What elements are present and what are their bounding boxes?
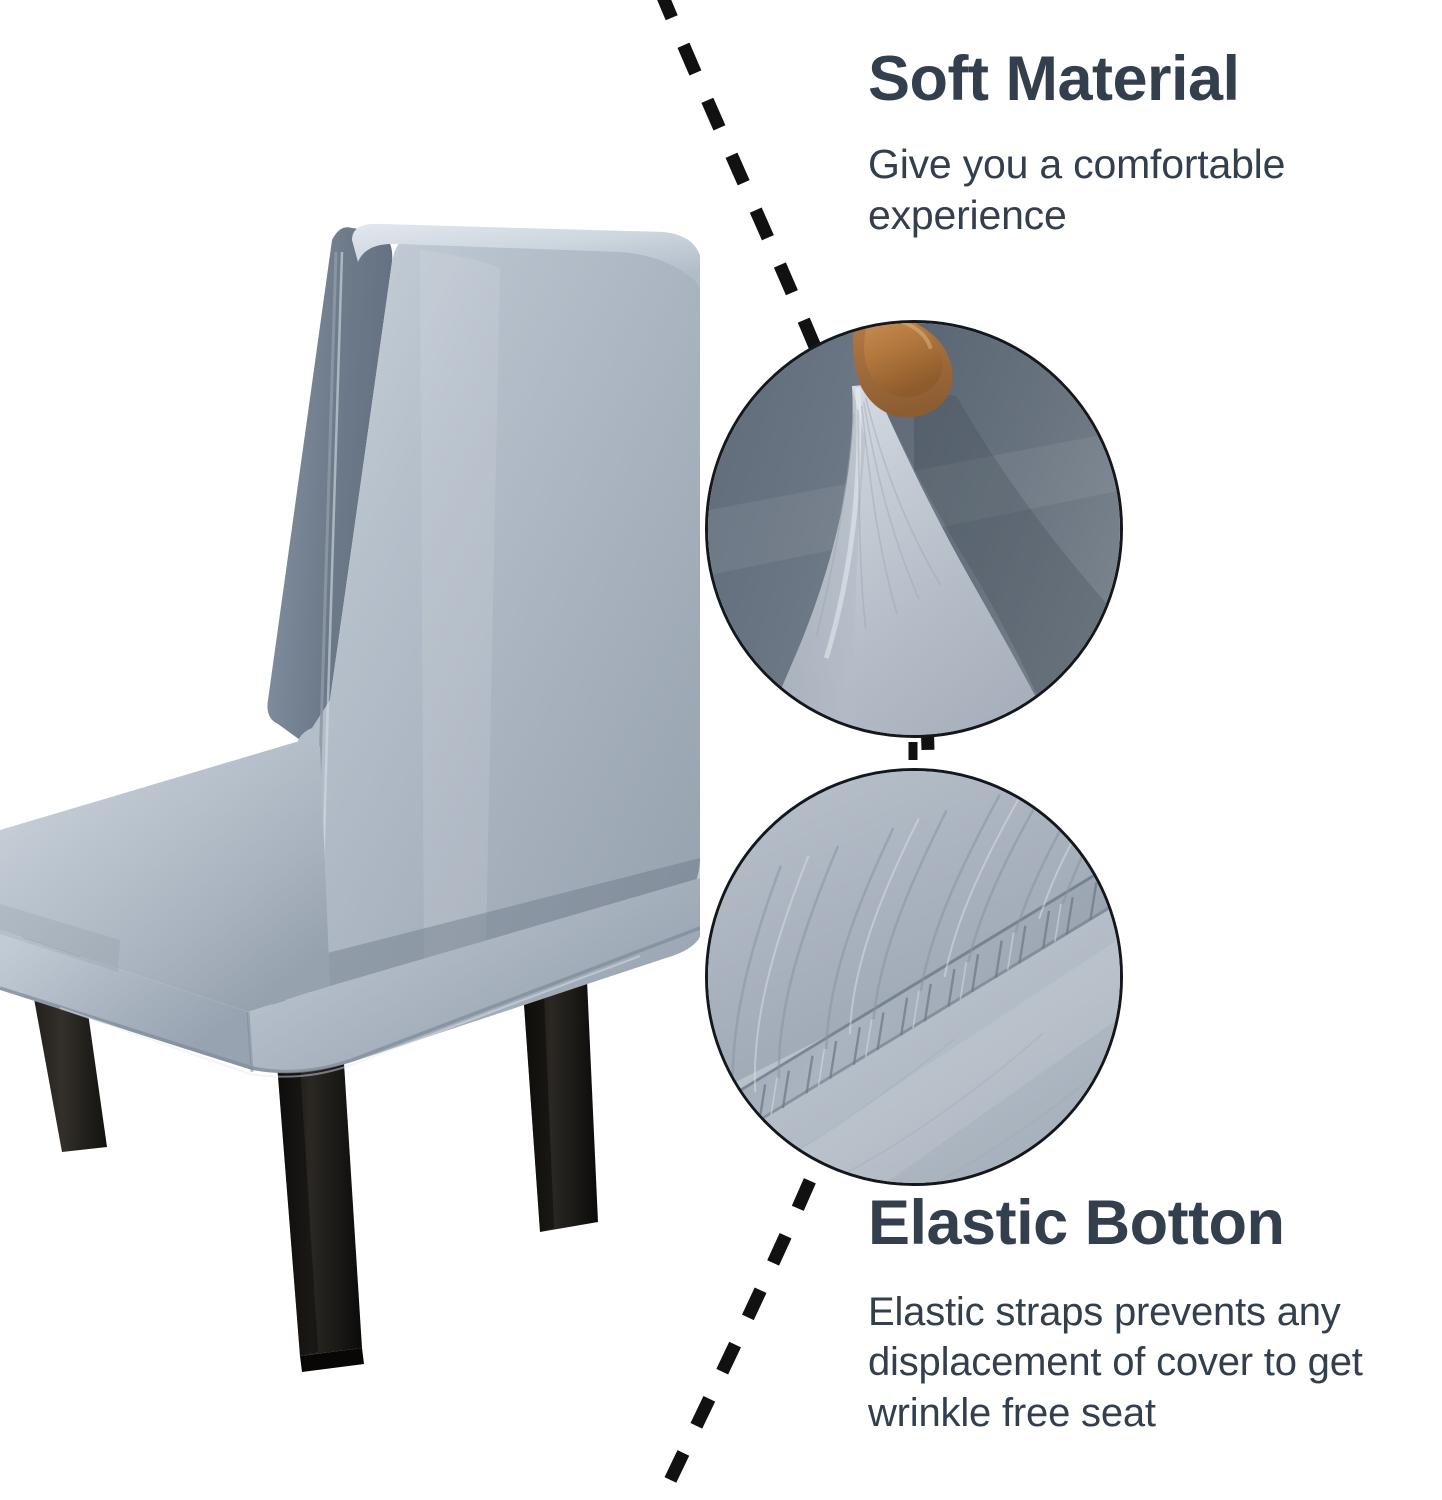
soft-material-description: Give you a comfortable experience: [868, 113, 1428, 242]
soft-material-text-block: Soft Material Give you a comfortable exp…: [868, 46, 1428, 242]
soft-material-heading: Soft Material: [868, 46, 1428, 113]
soft-material-detail-circle: [705, 320, 1123, 738]
covered-dining-chair-graphic: [0, 0, 700, 1420]
elastic-bottom-text-block: Elastic Botton Elastic straps prevents a…: [868, 1190, 1442, 1438]
fabric-pinch-photo: [708, 323, 1120, 735]
chair-illustration: [0, 0, 700, 1420]
product-infographic-poster: Soft Material Give you a comfortable exp…: [0, 0, 1442, 1500]
elastic-bottom-description: Elastic straps prevents any displacement…: [868, 1257, 1442, 1438]
elastic-hem-photo: [708, 771, 1120, 1183]
elastic-bottom-detail-circle: [705, 768, 1123, 1186]
elastic-bottom-heading: Elastic Botton: [868, 1190, 1442, 1257]
